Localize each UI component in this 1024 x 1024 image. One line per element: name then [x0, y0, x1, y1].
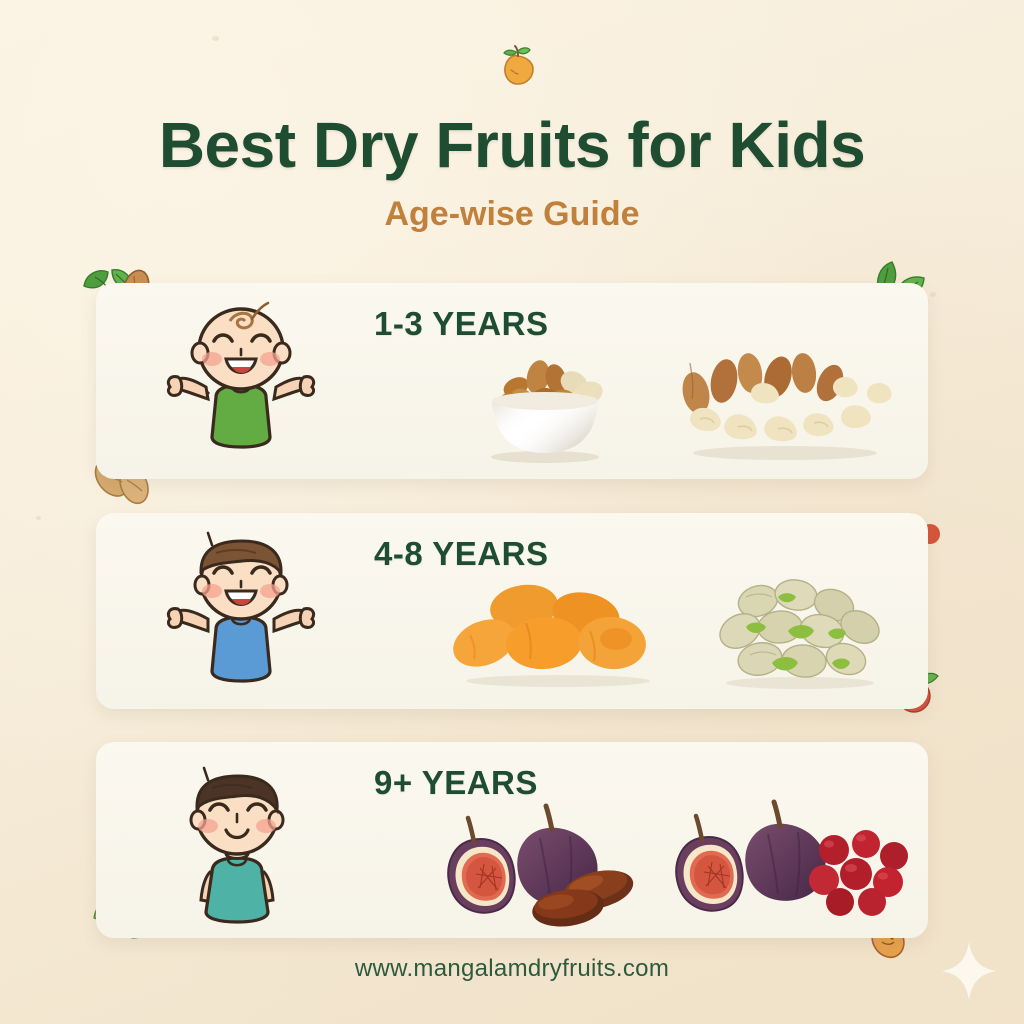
- almonds-and-cashews-image: [650, 343, 920, 463]
- paper-speck: [36, 516, 41, 520]
- food-images-row: [450, 335, 920, 475]
- age-label: 9+ YEARS: [374, 764, 538, 802]
- mango-top-icon: [494, 44, 538, 90]
- age-row-card[interactable]: 4-8 YEARS: [96, 513, 928, 709]
- paper-speck: [212, 36, 219, 41]
- pistachios-image: [688, 575, 918, 695]
- page-subtitle: Age-wise Guide: [0, 195, 1024, 234]
- website-footer: www.mangalamdryfruits.com: [0, 955, 1024, 983]
- infographic-poster: Best Dry Fruits for Kids Age-wise Guide: [0, 0, 1024, 1024]
- figs-and-dates-image: [420, 798, 670, 928]
- dried-apricots-image: [440, 581, 680, 691]
- bowl-of-mixed-nuts-image: [450, 335, 640, 465]
- page-title: Best Dry Fruits for Kids: [0, 108, 1024, 182]
- toddler-arms-up-icon: [156, 297, 326, 467]
- boy-standing-icon: [152, 760, 322, 930]
- food-images-row: [440, 565, 920, 705]
- boy-arms-up-icon: [156, 527, 326, 697]
- age-row-card[interactable]: 1-3 YEARS: [96, 283, 928, 479]
- figs-and-cranberries-image: [664, 798, 920, 928]
- age-row-card[interactable]: 9+ YEARS: [96, 742, 928, 938]
- food-images-row: [420, 798, 920, 938]
